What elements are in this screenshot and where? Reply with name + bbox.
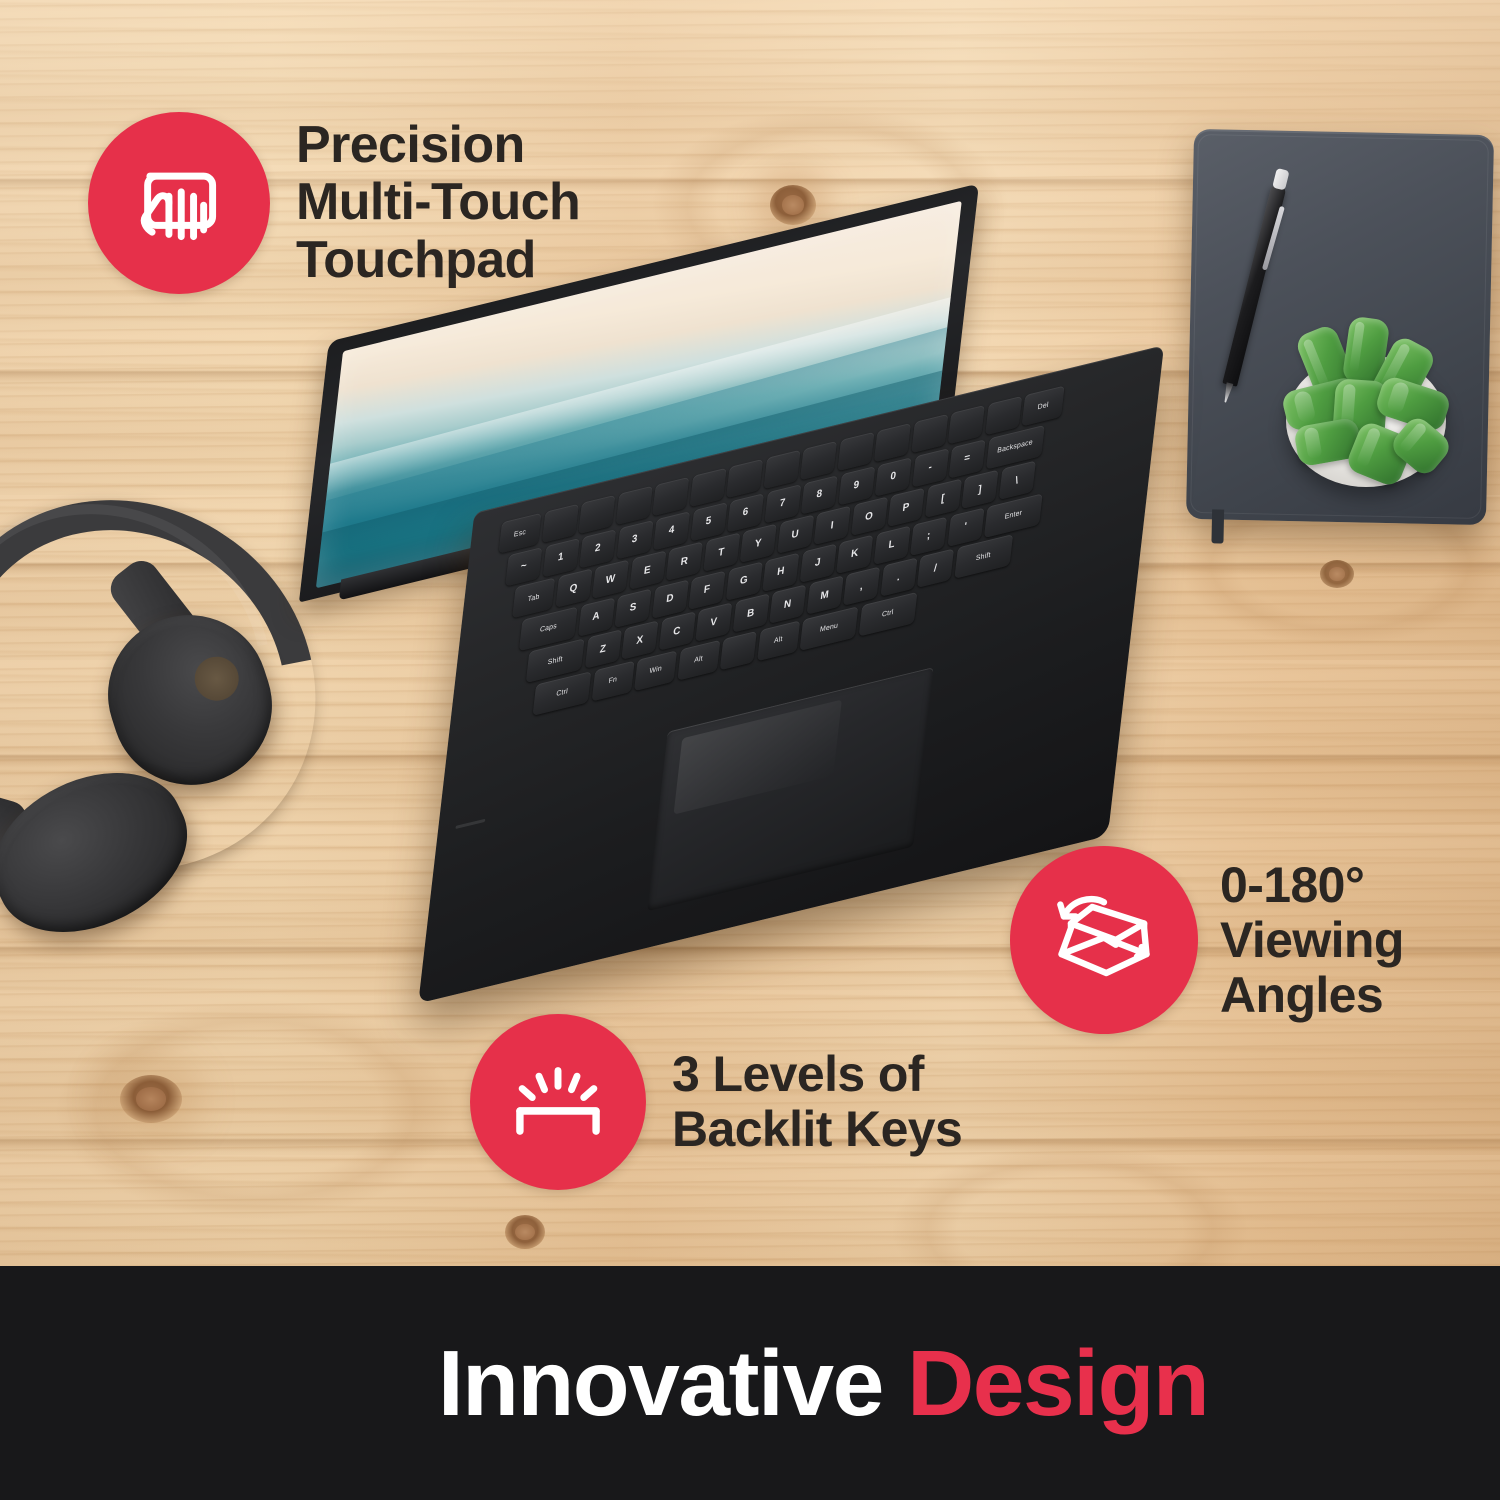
keyboard-key[interactable]: Esc	[498, 513, 541, 554]
keyboard-key[interactable]: Alt	[677, 639, 720, 680]
keyboard-key[interactable]: V	[695, 602, 732, 641]
banner-headline-space	[883, 1331, 907, 1435]
over-ear-headphones	[0, 505, 350, 865]
keyboard-key[interactable]: L	[873, 525, 910, 564]
keyboard-key[interactable]: 2	[579, 529, 616, 568]
keyboard-key[interactable]: Alt	[757, 620, 800, 661]
feature-viewing-angles: 0-180° Viewing Angles	[1010, 846, 1404, 1034]
keyboard-key[interactable]: 5	[690, 502, 727, 541]
keyboard-key[interactable]: O	[851, 497, 888, 536]
keyboard-key[interactable]: [	[924, 479, 961, 518]
palmrest-seam	[455, 819, 485, 829]
keyboard-key[interactable]: N	[769, 584, 806, 623]
keyboard-key[interactable]	[541, 504, 578, 543]
keyboard-key[interactable]: T	[703, 533, 740, 572]
feature-badge-circle	[88, 112, 270, 294]
wood-desk-photo: EscDel~1234567890-=BackspaceTabQWERTYUIO…	[0, 0, 1500, 1266]
keyboard-key[interactable]: Q	[555, 568, 592, 607]
keyboard-key[interactable]: W	[592, 559, 629, 598]
keyboard-key[interactable]: A	[578, 597, 615, 636]
keyboard-key[interactable]: 8	[801, 475, 838, 514]
keyboard-key[interactable]	[948, 405, 985, 444]
keyboard-key[interactable]: U	[777, 515, 814, 554]
keyboard-key[interactable]: H	[762, 552, 799, 591]
keyboard-key[interactable]: E	[629, 550, 666, 589]
keyboard-key[interactable]: =	[949, 439, 986, 478]
keyboard-key[interactable]: M	[806, 575, 843, 614]
keyboard-key[interactable]: 3	[616, 520, 653, 559]
keyboard-key[interactable]: /	[917, 548, 954, 587]
keyboard-key[interactable]: .	[880, 557, 917, 596]
keyboard-key[interactable]: P	[888, 488, 925, 527]
keyboard-key[interactable]: '	[947, 507, 984, 546]
bottom-banner: Innovative Design	[0, 1266, 1500, 1500]
notebook-bookmark-ribbon	[1211, 509, 1224, 543]
feature-precision-multi-touch-touchpad: Precision Multi-Touch Touchpad	[88, 112, 580, 294]
keyboard-key[interactable]: X	[621, 620, 658, 659]
keyboard-key[interactable]: R	[666, 541, 703, 580]
keyboard-key[interactable]	[763, 450, 800, 489]
keyboard-key[interactable]	[578, 495, 615, 534]
keyboard-key[interactable]: ,	[843, 566, 880, 605]
wood-grain-swirl	[20, 980, 490, 1240]
feature-badge-circle	[1010, 846, 1198, 1034]
wood-knot	[120, 1075, 182, 1123]
feature-label: 3 Levels of Backlit Keys	[672, 1047, 962, 1157]
keyboard-key[interactable]	[911, 414, 948, 453]
keyboard-key[interactable]: B	[732, 593, 769, 632]
product-marketing-image: EscDel~1234567890-=BackspaceTabQWERTYUIO…	[0, 0, 1500, 1500]
keyboard-key[interactable]: F	[688, 570, 725, 609]
keyboard-key[interactable]: Del	[1022, 386, 1065, 427]
keyboard-key[interactable]: \	[998, 461, 1035, 500]
keyboard-key[interactable]	[720, 630, 757, 669]
keyboard-key[interactable]	[985, 396, 1022, 435]
keyboard-key[interactable]: Win	[634, 650, 677, 691]
keyboard-key[interactable]	[800, 441, 837, 480]
keyboard-key[interactable]: S	[615, 588, 652, 627]
keyboard-key[interactable]: 4	[653, 511, 690, 550]
keyboard-key[interactable]	[689, 468, 726, 507]
keyboard-key[interactable]	[874, 423, 911, 462]
feature-label: Precision Multi-Touch Touchpad	[296, 117, 580, 289]
keyboard-key[interactable]: K	[836, 534, 873, 573]
banner-headline-primary: Innovative	[438, 1331, 883, 1435]
wood-knot	[1320, 560, 1354, 588]
banner-headline: Innovative Design	[292, 1223, 1208, 1500]
keyboard-key[interactable]: 1	[542, 538, 579, 577]
keyboard-key[interactable]: G	[725, 561, 762, 600]
banner-headline-accent: Design	[907, 1331, 1208, 1435]
keyboard-key[interactable]: J	[799, 543, 836, 582]
feature-badge-circle	[470, 1014, 646, 1190]
keyboard-key[interactable]: Z	[584, 629, 621, 668]
hand-touchpad-icon	[123, 147, 235, 259]
keyboard-key[interactable]: Fn	[591, 660, 634, 701]
keyboard-key[interactable]	[652, 477, 689, 516]
keyboard-key[interactable]: D	[651, 579, 688, 618]
keyboard-key[interactable]: ]	[961, 470, 998, 509]
pen-push-button	[1272, 168, 1289, 191]
keyboard-key[interactable]: 7	[764, 484, 801, 523]
keyboard-key[interactable]: ;	[910, 516, 947, 555]
keyboard-key[interactable]: C	[658, 611, 695, 650]
keyboard-key[interactable]	[837, 432, 874, 471]
keyboard-key[interactable]: ~	[505, 547, 542, 586]
keyboard-key[interactable]	[615, 486, 652, 525]
keyboard-key[interactable]: Tab	[512, 577, 555, 618]
touchpad-gloss	[674, 700, 842, 814]
backlit-keyboard-icon	[502, 1046, 614, 1158]
keyboard-key[interactable]: Y	[740, 524, 777, 563]
keyboard-key[interactable]: -	[912, 448, 949, 487]
keyboard-key[interactable]	[726, 459, 763, 498]
keyboard-key[interactable]: 0	[875, 457, 912, 496]
laptop-rotate-180-icon	[1045, 881, 1163, 999]
feature-backlit-keys: 3 Levels of Backlit Keys	[470, 1014, 962, 1190]
keyboard-key[interactable]: 9	[838, 466, 875, 505]
wood-knot	[770, 185, 816, 225]
feature-label: 0-180° Viewing Angles	[1220, 858, 1404, 1023]
keyboard-key[interactable]: I	[814, 506, 851, 545]
pen-tip	[1222, 382, 1234, 403]
keyboard-key[interactable]: 6	[727, 493, 764, 532]
potted-cactus	[1272, 318, 1462, 496]
